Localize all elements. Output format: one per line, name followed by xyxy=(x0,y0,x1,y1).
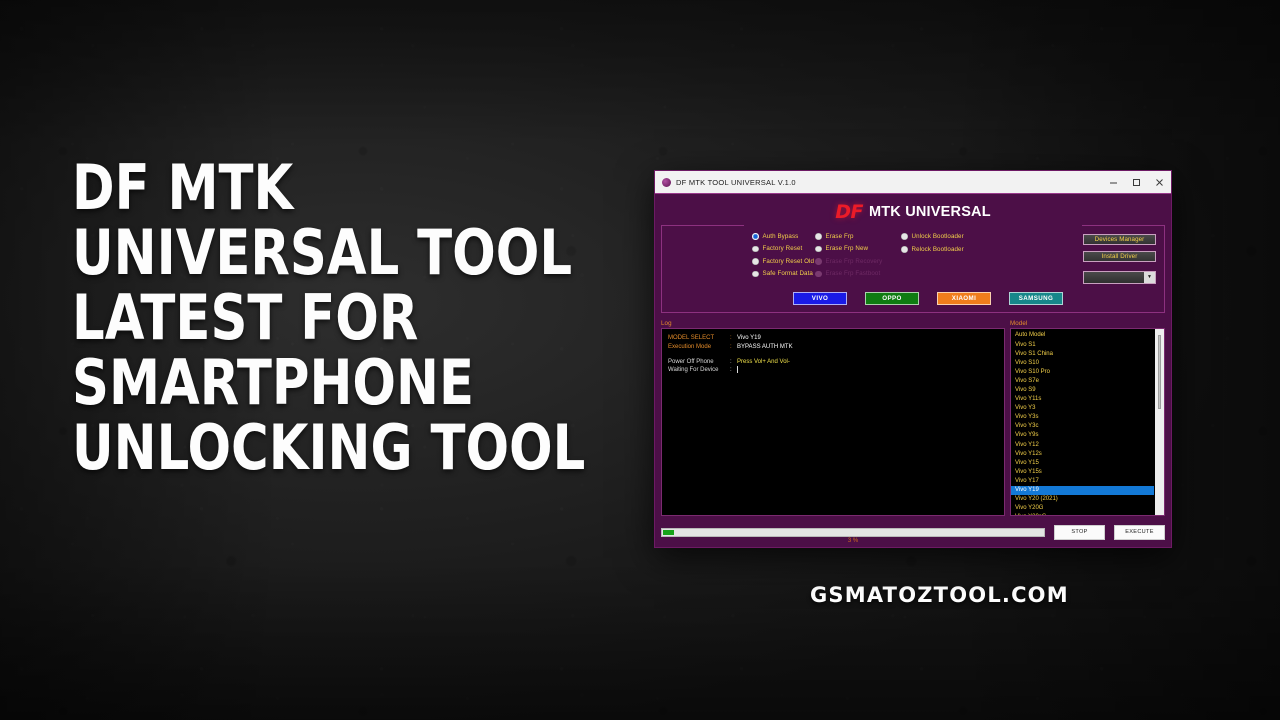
model-list-item[interactable]: Vivo Y20G xyxy=(1011,504,1154,513)
footer-bar: 3 % STOP EXECUTE xyxy=(661,523,1165,542)
model-list-item[interactable]: Vivo Y9s xyxy=(1011,431,1154,440)
radio-factory-reset-old[interactable]: Factory Reset Old xyxy=(752,258,815,265)
group-title-gap xyxy=(744,225,1082,227)
model-list-item[interactable]: Vivo Y20 (2021) xyxy=(1011,495,1154,504)
log-label: Log xyxy=(661,320,1005,327)
model-list-item[interactable]: Vivo S7e xyxy=(1011,377,1154,386)
radio-unlock-bootloader[interactable]: Unlock Bootloader xyxy=(901,233,996,240)
poster-headline: DF MTK UNIVERSAL TOOL LATEST FOR SMARTPH… xyxy=(72,158,617,483)
app-window: DF MTK TOOL UNIVERSAL V.1.0 DF MTK UNIVE… xyxy=(654,170,1172,548)
window-title: DF MTK TOOL UNIVERSAL V.1.0 xyxy=(676,178,1102,187)
log-key: Power Off Phone xyxy=(668,358,730,366)
log-row: MODEL SELECT : Vivo Y19 xyxy=(668,334,998,342)
brand-buttons: VIVO OPPO XIAOMI SAMSUNG xyxy=(670,292,1156,305)
log-row: Execution Mode : BYPASS AUTH MTK xyxy=(668,343,998,351)
radio-label: Erase Frp Recovery xyxy=(826,258,883,265)
model-list-item[interactable]: Vivo S1 China xyxy=(1011,350,1154,359)
headline-line-3: LATEST FOR xyxy=(72,288,590,349)
side-button-stack: Devices Manager Install Driver ▼ xyxy=(1083,233,1156,284)
model-list-item[interactable]: Vivo S10 xyxy=(1011,359,1154,368)
model-listbox[interactable]: Auto ModelVivo S1Vivo S1 ChinaVivo S10Vi… xyxy=(1010,328,1165,515)
scrollbar-thumb[interactable] xyxy=(1158,335,1161,409)
radio-label: Safe Format Data xyxy=(763,270,813,277)
log-row: Power Off Phone : Press Vol+ And Vol- xyxy=(668,358,998,366)
log-section: Log MODEL SELECT : Vivo Y19 Execution Mo… xyxy=(661,320,1005,516)
radio-dot-icon xyxy=(815,233,822,240)
model-section: Model Auto ModelVivo S1Vivo S1 ChinaVivo… xyxy=(1010,320,1165,516)
headline-line-1: DF MTK xyxy=(72,158,590,219)
radio-relock-bootloader[interactable]: Relock Bootloader xyxy=(901,246,996,253)
chevron-down-icon: ▼ xyxy=(1144,272,1155,283)
log-colon: : xyxy=(730,343,737,351)
model-list-item[interactable]: Vivo S1 xyxy=(1011,341,1154,350)
devices-manager-button[interactable]: Devices Manager xyxy=(1083,234,1156,245)
radio-erase-frp-fastboot: Erase Frp Fastboot xyxy=(815,270,887,277)
headline-line-5: UNLOCKING TOOL xyxy=(72,418,590,479)
log-colon: : xyxy=(730,334,737,342)
radio-label: Relock Bootloader xyxy=(912,246,964,253)
brand-button-xiaomi[interactable]: XIAOMI xyxy=(937,292,991,305)
radio-label: Factory Reset Old xyxy=(763,258,815,265)
site-watermark: GSMATOZTOOL.COM xyxy=(810,583,1069,607)
close-icon[interactable] xyxy=(1148,171,1171,193)
model-list-item[interactable]: Vivo Y12s xyxy=(1011,450,1154,459)
port-select-value xyxy=(1084,272,1144,283)
app-logo-icon xyxy=(662,178,671,187)
logo-name-text: MTK UNIVERSAL xyxy=(869,204,991,220)
progress-bar xyxy=(661,528,1045,537)
radio-factory-reset[interactable]: Factory Reset xyxy=(752,245,815,252)
radio-dot-icon xyxy=(901,246,908,253)
radio-label: Erase Frp xyxy=(826,233,854,240)
radio-label: Unlock Bootloader xyxy=(912,233,964,240)
minimize-icon[interactable] xyxy=(1102,171,1125,193)
maximize-icon[interactable] xyxy=(1125,171,1148,193)
radio-dot-icon xyxy=(815,271,822,278)
main-content: Log MODEL SELECT : Vivo Y19 Execution Mo… xyxy=(661,320,1165,516)
radio-dot-icon xyxy=(752,271,759,278)
radio-auth-bypass[interactable]: Auth Bypass xyxy=(752,233,815,240)
model-label: Model xyxy=(1010,320,1165,327)
radio-label: Erase Frp Fastboot xyxy=(826,270,881,277)
radio-safe-format-data[interactable]: Safe Format Data xyxy=(752,270,815,277)
model-list-item[interactable]: Vivo Y15s xyxy=(1011,468,1154,477)
radio-erase-frp-recovery: Erase Frp Recovery xyxy=(815,258,887,265)
log-key: Execution Mode xyxy=(668,343,730,351)
log-key: MODEL SELECT xyxy=(668,334,730,342)
radio-dot-icon xyxy=(815,258,822,265)
radio-dot-icon xyxy=(752,233,759,240)
radio-erase-frp-new[interactable]: Erase Frp New xyxy=(815,245,887,252)
log-colon: : xyxy=(730,358,737,366)
radio-label: Erase Frp New xyxy=(826,245,869,252)
model-list-item[interactable]: Vivo Y3 xyxy=(1011,404,1154,413)
radio-erase-frp[interactable]: Erase Frp xyxy=(815,233,887,240)
operation-options: Auth Bypass Factory Reset Factory Reset … xyxy=(670,233,1156,284)
install-driver-button[interactable]: Install Driver xyxy=(1083,251,1156,262)
model-list-item[interactable]: Vivo Y17 xyxy=(1011,477,1154,486)
log-value: BYPASS AUTH MTK xyxy=(737,343,793,351)
brand-button-samsung[interactable]: SAMSUNG xyxy=(1009,292,1063,305)
execute-button[interactable]: EXECUTE xyxy=(1114,525,1165,540)
model-list-item[interactable]: Vivo Y19 xyxy=(1011,486,1154,495)
log-key: Waiting For Device xyxy=(668,366,730,374)
log-colon: : xyxy=(730,366,737,374)
progress-section: 3 % xyxy=(661,528,1045,537)
log-blank-row xyxy=(668,351,998,358)
brand-button-oppo[interactable]: OPPO xyxy=(865,292,919,305)
radio-dot-icon xyxy=(815,246,822,253)
model-list[interactable]: Auto ModelVivo S1Vivo S1 ChinaVivo S10Vi… xyxy=(1011,329,1154,514)
model-scrollbar[interactable] xyxy=(1154,329,1164,514)
app-logo: DF MTK UNIVERSAL xyxy=(661,200,1165,224)
model-list-item[interactable]: Vivo Y3c xyxy=(1011,422,1154,431)
text-caret xyxy=(737,366,738,373)
operations-group: Auth Bypass Factory Reset Factory Reset … xyxy=(661,225,1165,313)
options-column-2: Erase Frp Erase Frp New Erase Frp Recove… xyxy=(815,233,887,278)
window-controls xyxy=(1102,171,1171,193)
radio-label: Factory Reset xyxy=(763,245,803,252)
model-list-item[interactable]: Vivo Y11s xyxy=(1011,395,1154,404)
options-column-3: Unlock Bootloader Relock Bootloader xyxy=(901,233,996,253)
headline-line-4: SMARTPHONE xyxy=(72,353,590,414)
progress-fill xyxy=(663,530,674,535)
stop-button[interactable]: STOP xyxy=(1054,525,1105,540)
model-list-item[interactable]: Auto Model xyxy=(1011,331,1154,340)
window-titlebar[interactable]: DF MTK TOOL UNIVERSAL V.1.0 xyxy=(655,171,1171,194)
model-list-item[interactable]: Vivo S10 Pro xyxy=(1011,368,1154,377)
radio-label: Auth Bypass xyxy=(763,233,799,240)
brand-button-vivo[interactable]: VIVO xyxy=(793,292,847,305)
options-column-1: Auth Bypass Factory Reset Factory Reset … xyxy=(752,233,815,278)
radio-dot-icon xyxy=(752,246,759,253)
radio-dot-icon xyxy=(752,258,759,265)
model-list-item[interactable]: Vivo Y12 xyxy=(1011,441,1154,450)
model-list-item[interactable]: Vivo Y15 xyxy=(1011,459,1154,468)
port-select-dropdown[interactable]: ▼ xyxy=(1083,271,1156,284)
window-body: DF MTK UNIVERSAL Auth Bypass Factory Res… xyxy=(655,194,1171,547)
headline-line-2: UNIVERSAL TOOL xyxy=(72,223,590,284)
log-output[interactable]: MODEL SELECT : Vivo Y19 Execution Mode :… xyxy=(661,328,1005,515)
model-list-item[interactable]: Vivo Y3s xyxy=(1011,413,1154,422)
log-value: Press Vol+ And Vol- xyxy=(737,358,790,366)
log-row: Waiting For Device : xyxy=(668,366,998,374)
model-list-item[interactable]: Vivo S9 xyxy=(1011,386,1154,395)
logo-brand-text: DF xyxy=(835,201,863,223)
radio-dot-icon xyxy=(901,233,908,240)
model-list-item[interactable]: Vivo Y20sG xyxy=(1011,513,1154,514)
log-value: Vivo Y19 xyxy=(737,334,761,342)
progress-label: 3 % xyxy=(661,538,1045,544)
